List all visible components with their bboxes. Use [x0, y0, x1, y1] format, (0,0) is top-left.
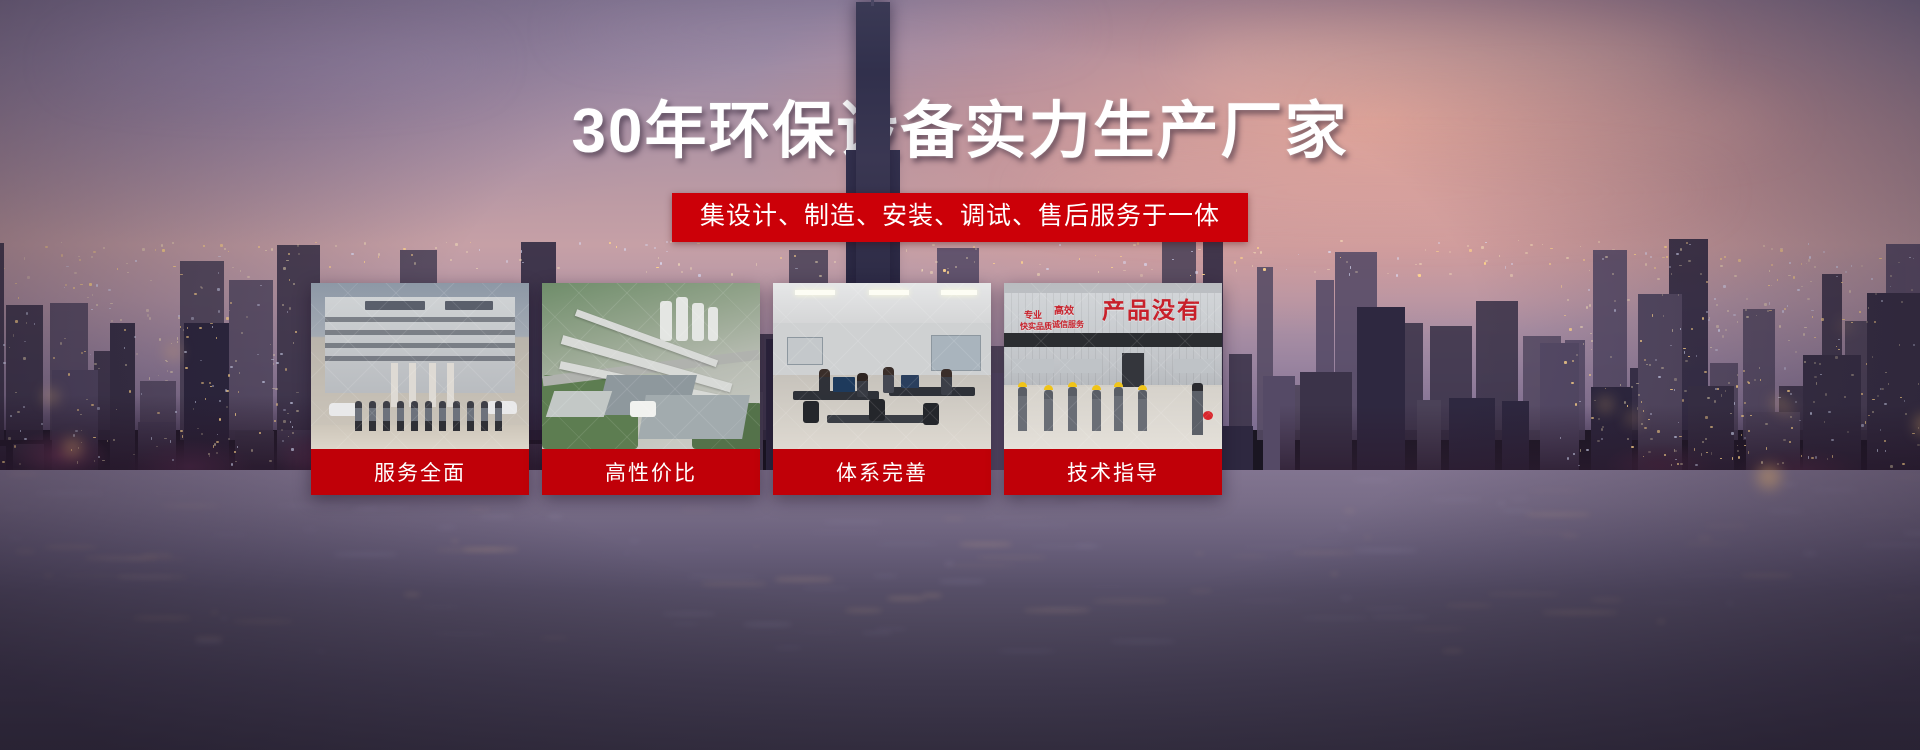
factory-slogan: 产品没有	[1102, 299, 1202, 322]
building-phone-sign	[445, 301, 493, 310]
card-label: 服务全面	[311, 449, 529, 495]
card-label: 高性价比	[542, 449, 760, 495]
card-photo-factory-yard: 产品没有 专业 高效 快实品质 诚信服务	[1004, 283, 1222, 449]
card-label: 技术指导	[1004, 449, 1222, 495]
feature-card-list: 服务全面	[311, 283, 1543, 495]
card-label: 体系完善	[773, 449, 991, 495]
feature-card[interactable]: 服务全面	[311, 283, 529, 495]
feature-card[interactable]: 高性价比	[542, 283, 760, 495]
factory-word-1: 专业	[1024, 311, 1042, 320]
banner-headline: 30年环保设备实力生产厂家	[0, 101, 1920, 163]
factory-word-4: 诚信服务	[1052, 321, 1084, 329]
card-photo-office-building	[311, 283, 529, 449]
card-photo-office-interior	[773, 283, 991, 449]
subtitle-wrap: 集设计、制造、安装、调试、售后服务于一体	[0, 193, 1920, 242]
hero-banner: 30年环保设备实力生产厂家 集设计、制造、安装、调试、售后服务于一体	[0, 0, 1920, 750]
card-photo-aerial-plant	[542, 283, 760, 449]
banner-subtitle: 集设计、制造、安装、调试、售后服务于一体	[672, 193, 1248, 242]
feature-card[interactable]: 体系完善	[773, 283, 991, 495]
factory-word-2: 高效	[1054, 307, 1074, 317]
feature-card[interactable]: 产品没有 专业 高效 快实品质 诚信服务 技术	[1004, 283, 1222, 495]
building-sign	[365, 301, 425, 310]
factory-word-3: 快实品质	[1020, 323, 1052, 331]
